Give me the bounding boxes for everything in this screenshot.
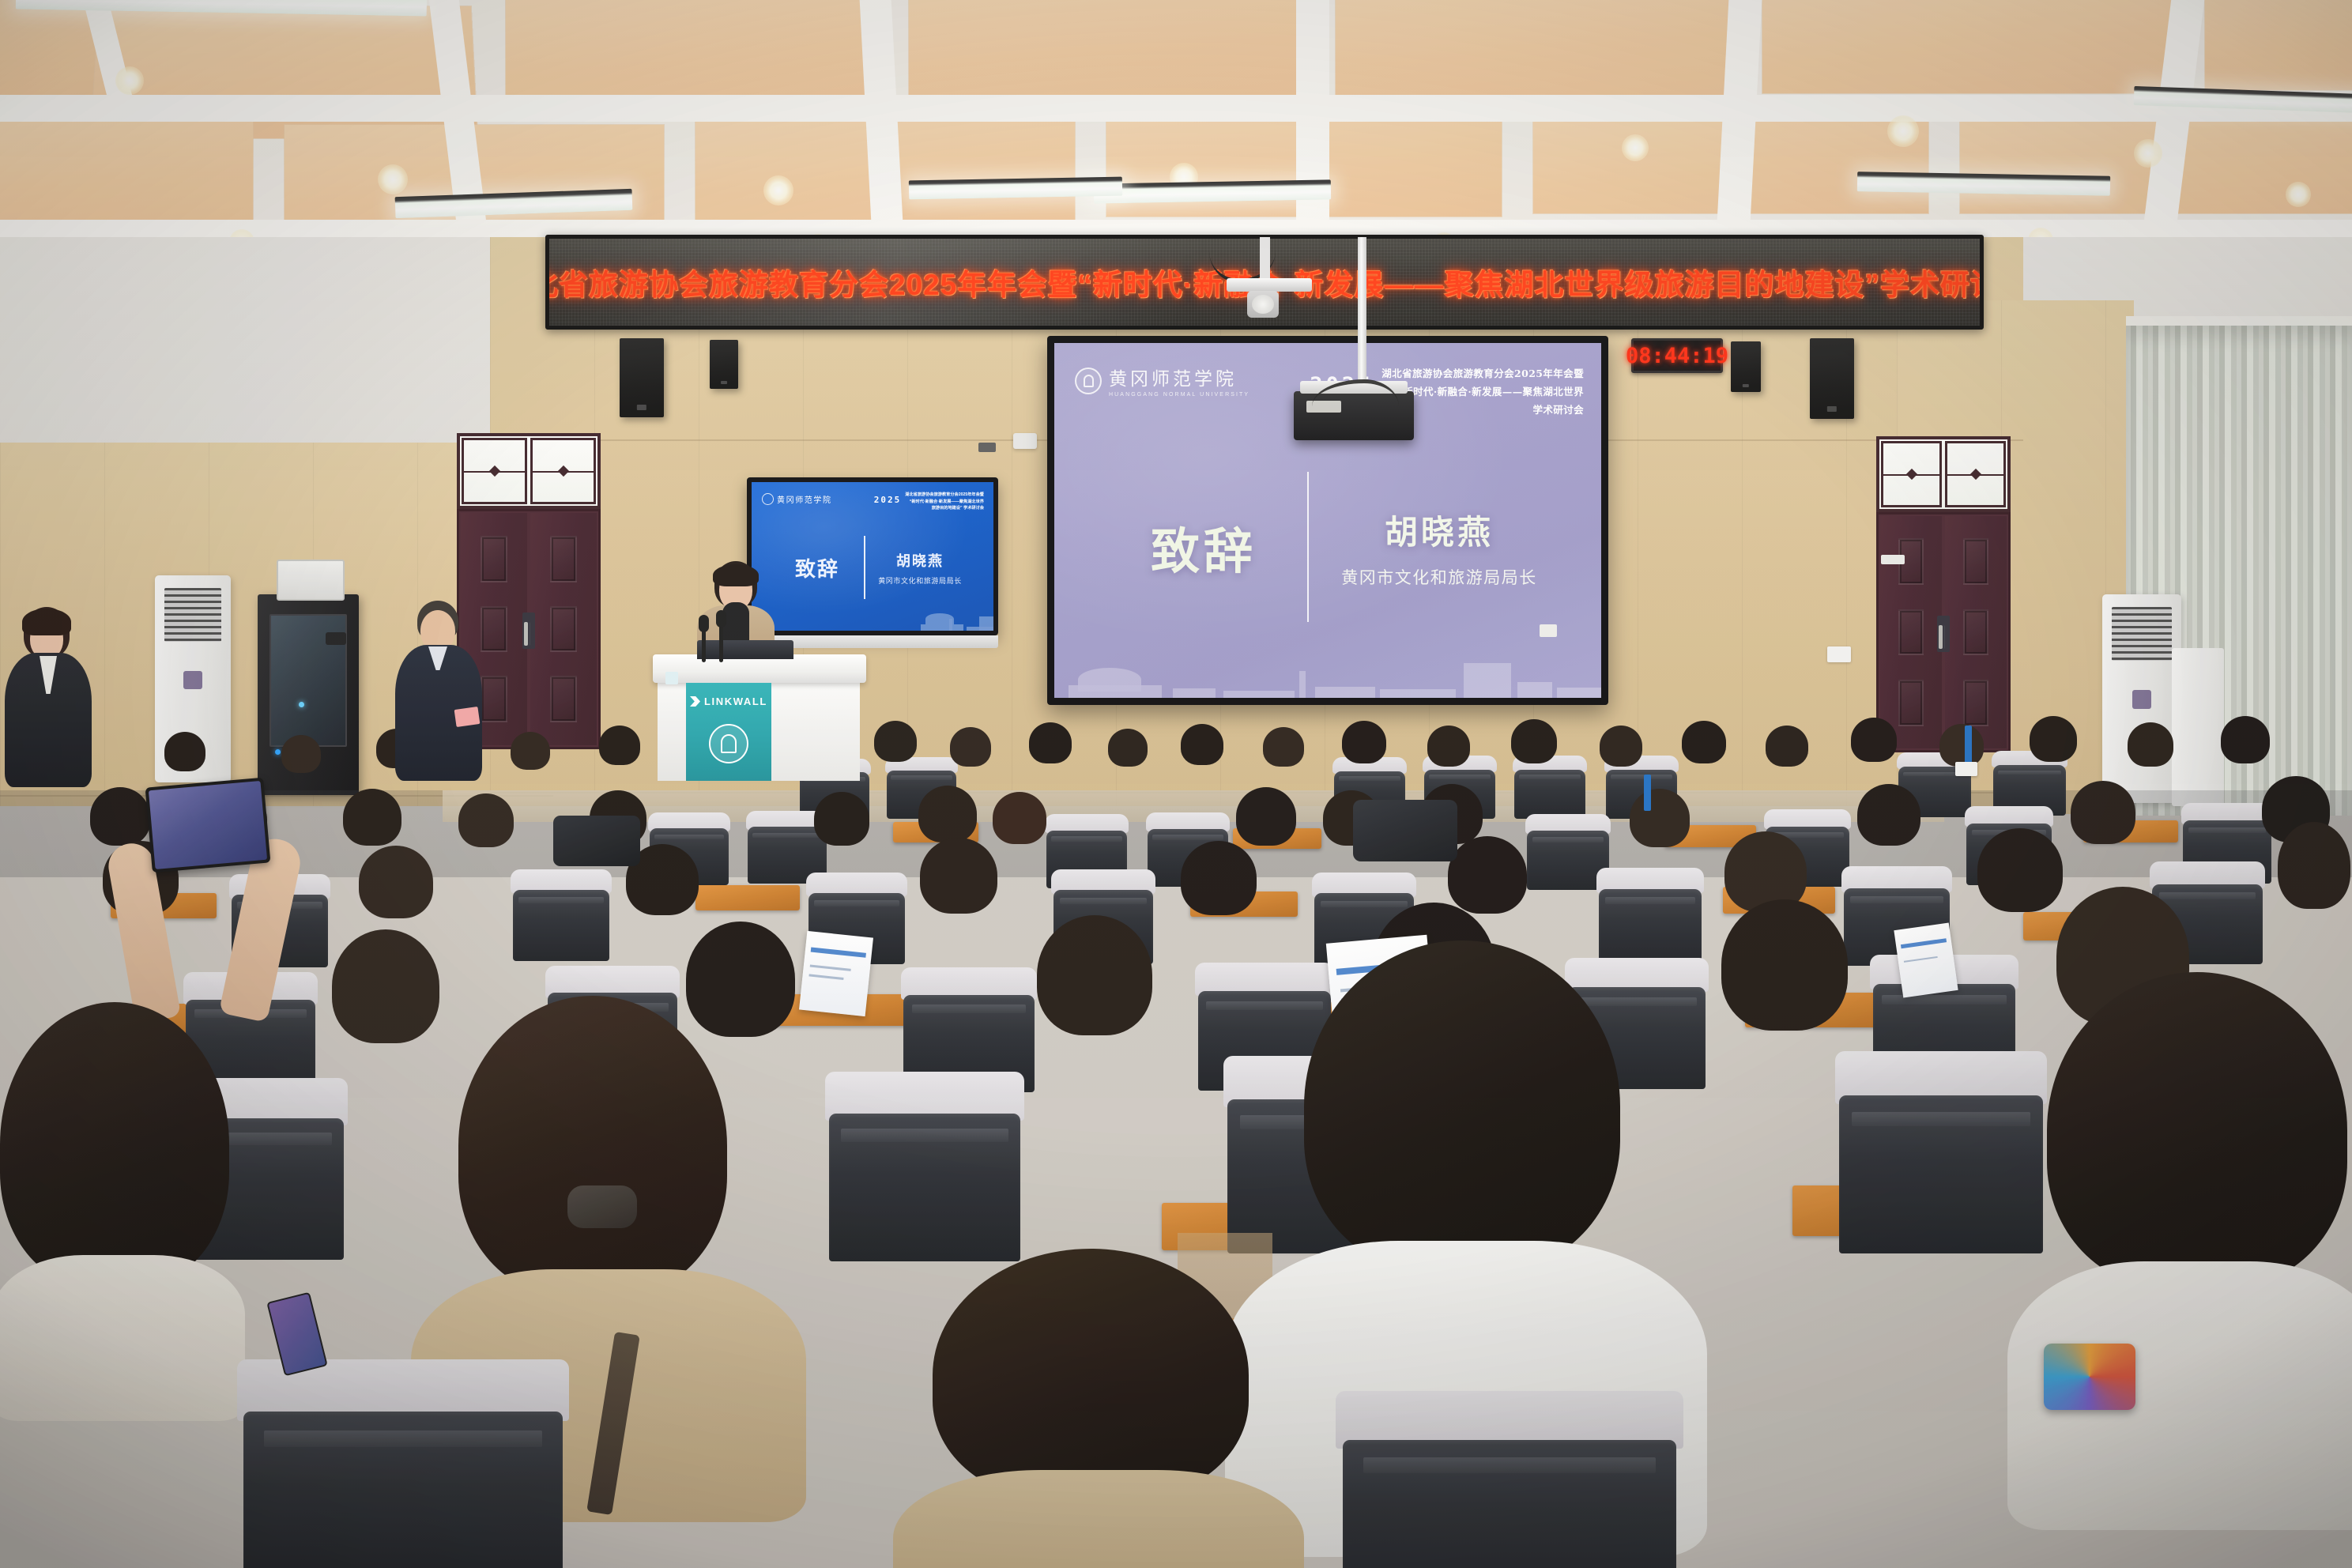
- wall-outlet: [1540, 624, 1557, 637]
- ceiling-light-fixture: [909, 177, 1122, 200]
- audience-member: [330, 929, 441, 1046]
- microphone-icon: [702, 628, 706, 662]
- tv-university-cn: 黄冈师范学院: [777, 493, 832, 505]
- slide-section-title: 致辞: [1105, 511, 1302, 582]
- hair-clip: [567, 1185, 637, 1228]
- projector-mount-pole: [1358, 237, 1366, 403]
- audience-member: [1628, 789, 1691, 852]
- audience-member-foreground: [917, 1249, 1265, 1568]
- audience-member: [2219, 716, 2271, 768]
- tv-university-logo: 黄冈师范学院: [762, 493, 832, 505]
- digital-clock: 08:44:19: [1631, 338, 1723, 373]
- tablet-device-icon[interactable]: [145, 778, 271, 873]
- ceiling: [0, 0, 2352, 261]
- door-transom-window: [1876, 436, 2011, 512]
- seat[interactable]: [511, 869, 612, 961]
- audience-member: [357, 846, 435, 923]
- tv-header-line-1: 湖北省旅游协会旅游教育分会2025年年会暨: [905, 492, 984, 497]
- tv-section-title: 致辞: [774, 553, 861, 582]
- audience-member: [1510, 719, 1559, 768]
- door-transom-window: [457, 433, 601, 509]
- slide-header-line-3: 学术研讨会: [1532, 401, 1584, 416]
- wall-camera: [1013, 433, 1037, 449]
- upper-wall: [0, 237, 490, 474]
- colorful-phone-case[interactable]: [2044, 1344, 2135, 1410]
- digital-clock-value: 08:44:19: [1626, 344, 1728, 368]
- standing-usher-left: [5, 607, 92, 789]
- audience-member: [918, 838, 999, 918]
- university-seal-icon: [1075, 367, 1102, 394]
- seat[interactable]: [1835, 1051, 2047, 1253]
- audience-member: [948, 727, 993, 771]
- audience-member: [163, 732, 207, 776]
- track-light-bar: [1227, 278, 1312, 292]
- podium-monitor: [697, 640, 793, 659]
- ceiling-spotlight: [2286, 182, 2311, 207]
- slide-body: 致辞 胡晓燕 黄冈市文化和旅游局局长: [1054, 468, 1601, 626]
- audience-member: [2126, 722, 2175, 771]
- slide-speaker-name: 胡晓燕: [1328, 506, 1551, 554]
- audience-member: [2276, 822, 2352, 914]
- light-switch-panel[interactable]: [1827, 646, 1851, 662]
- air-conditioner-icon-right: [2102, 594, 2181, 803]
- audience-member-foreground: [0, 1002, 237, 1366]
- tv-skyline-graphic: [752, 610, 993, 631]
- audience-member: [1764, 726, 1810, 771]
- seat[interactable]: [825, 1072, 1024, 1261]
- door-leaf[interactable]: [530, 513, 597, 745]
- ceiling-spotlight: [1622, 134, 1649, 161]
- university-seal-icon: [709, 724, 748, 763]
- door-leaf[interactable]: [1945, 516, 2007, 748]
- slide-skyline-graphic: [1054, 652, 1601, 698]
- ceiling-light-fixture: [1094, 179, 1331, 203]
- audience-member: [1976, 828, 2064, 917]
- audience-member: [1261, 727, 1306, 771]
- wall-sensor-box: [978, 443, 996, 452]
- wall-speaker-right-large: [1810, 338, 1854, 419]
- door-right[interactable]: [1876, 436, 2011, 752]
- ceiling-spotlight: [1887, 115, 1919, 147]
- slide-university-cn: 黄冈师范学院: [1109, 364, 1249, 390]
- audience-member: [597, 726, 642, 770]
- conference-hall-photo: 湖北省旅游协会旅游教育分会2025年年会暨“新时代·新融合·新发展——聚焦湖北世…: [0, 0, 2352, 1568]
- door-leaf[interactable]: [1880, 516, 1942, 748]
- audience-member: [457, 793, 515, 852]
- audience-member: [873, 721, 918, 767]
- audience-member: [1598, 726, 1644, 771]
- track-light-head: [1247, 291, 1279, 318]
- tv-year: 2025: [874, 492, 902, 505]
- audience-member: [341, 789, 403, 850]
- tv-speaker-role: 黄冈市文化和旅游局局长: [869, 575, 971, 586]
- ceiling-spotlight: [763, 175, 793, 205]
- wall-speaker-left-small: [710, 340, 738, 389]
- name-badge: [1955, 762, 1977, 776]
- audience-member-foreground: [443, 996, 775, 1423]
- audience-member: [509, 732, 552, 775]
- program-booklet-icon[interactable]: [799, 931, 873, 1016]
- audience-member: [280, 735, 322, 778]
- audience-member: [991, 792, 1048, 849]
- tv-divider: [864, 536, 865, 599]
- track-light-pole: [1260, 237, 1270, 283]
- slide-header-line-2: “新时代·新融合·新发展——聚焦湖北世界: [1397, 383, 1584, 398]
- held-paper-card: [454, 707, 481, 727]
- audience-member: [1680, 721, 1728, 768]
- bag-on-seat: [1353, 800, 1457, 861]
- audience-member: [1856, 784, 1922, 850]
- podium-brand-label: LINKWALL: [704, 695, 767, 707]
- university-seal-icon: [762, 493, 774, 505]
- wall-mounted-panel: [277, 560, 345, 601]
- audience-member: [1720, 899, 1849, 1034]
- seat[interactable]: [1336, 1391, 1683, 1568]
- door-access-panel[interactable]: [1881, 555, 1905, 564]
- bag-on-seat: [553, 816, 640, 866]
- audience-member: [1106, 729, 1149, 771]
- audience-member: [1426, 726, 1472, 771]
- slide-university-en: HUANGGANG NORMAL UNIVERSITY: [1109, 392, 1249, 398]
- seat[interactable]: [237, 1359, 569, 1568]
- ceiling-spotlight: [115, 66, 144, 95]
- tv-header-line-2: “新时代·新融合·新发展——聚焦湖北世界: [910, 499, 984, 504]
- ceiling-spotlight: [378, 164, 408, 194]
- lanyard: [1965, 726, 1972, 767]
- audience-member: [1027, 722, 1073, 768]
- audience-member: [1340, 721, 1388, 768]
- ceiling-spotlight: [2134, 139, 2162, 168]
- lanyard: [1644, 775, 1651, 811]
- slide-university-logo: 黄冈师范学院 HUANGGANG NORMAL UNIVERSITY: [1075, 364, 1249, 398]
- speaker-podium: LINKWALL: [653, 654, 866, 781]
- slide-header-line-1: 湖北省旅游协会旅游教育分会2025年年会暨: [1381, 365, 1584, 380]
- program-booklet-icon[interactable]: [1894, 923, 1958, 998]
- linkwall-logo-icon: [690, 696, 700, 707]
- small-device-on-rack: [326, 632, 346, 645]
- slide-speaker-role: 黄冈市文化和旅游局局长: [1328, 565, 1551, 589]
- standing-staff-center: [395, 601, 482, 782]
- seat-tablet-arm[interactable]: [695, 885, 800, 910]
- side-display-slide: 黄冈师范学院 2025 湖北省旅游协会旅游教育分会2025年年会暨 “新时代·新…: [752, 482, 993, 631]
- microphone-icon: [719, 623, 723, 662]
- audience-member: [1849, 718, 1898, 767]
- tv-speaker-name: 胡晓燕: [869, 550, 971, 571]
- wall-speaker-left-large: [620, 338, 664, 417]
- audience-member-foreground: [1257, 940, 1668, 1430]
- audience-member: [812, 792, 871, 850]
- audience-member: [2028, 716, 2079, 767]
- side-display-monitor: 黄冈师范学院 2025 湖北省旅游协会旅游教育分会2025年年会暨 “新时代·新…: [747, 477, 998, 635]
- audience-member: [1179, 724, 1225, 770]
- ac-duct-panel: [2172, 648, 2224, 806]
- water-cup: [665, 672, 678, 684]
- tv-header-line-3: 旅游目的地建设” 学术研讨会: [932, 505, 984, 511]
- podium-branding-panel: LINKWALL: [686, 683, 771, 781]
- audience-member: [1179, 841, 1258, 920]
- slide-divider: [1307, 472, 1309, 622]
- audience-member: [2069, 781, 2137, 849]
- tv-header: 2025 湖北省旅游协会旅游教育分会2025年年会暨 “新时代·新融合·新发展—…: [874, 492, 984, 511]
- wall-speaker-right-small: [1731, 341, 1761, 392]
- audience-member: [1035, 915, 1154, 1038]
